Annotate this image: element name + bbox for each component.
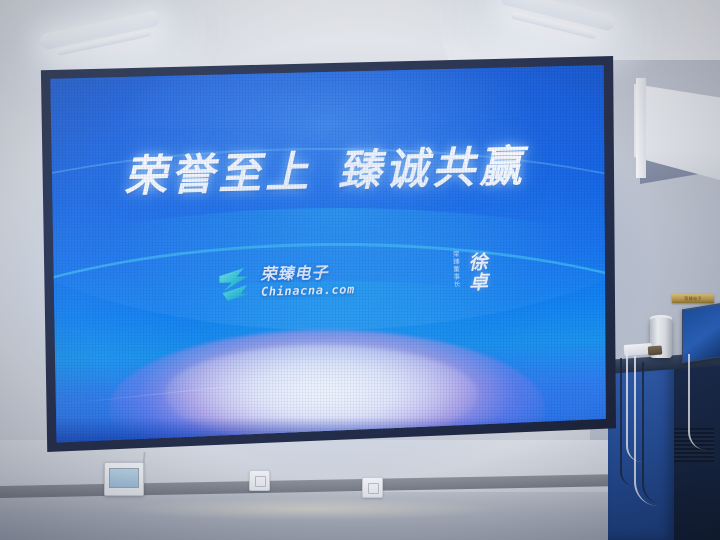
rongzhen-z-mark-icon — [215, 264, 254, 303]
signature-title: 荣臻董事长 — [450, 251, 461, 293]
headline-right: 臻诚共赢 — [337, 142, 526, 197]
signature-block: 荣臻董事长 徐卓 — [450, 250, 491, 293]
screenshot-root: 荣臻电子 — [0, 0, 720, 540]
wall-control-panel[interactable] — [104, 462, 144, 496]
cable-bundle-3 — [688, 354, 706, 450]
power-adapter-secondary — [648, 346, 663, 356]
signature-name: 徐卓 — [463, 251, 491, 292]
wall-socket-right[interactable] — [362, 477, 383, 498]
company-logo: 荣臻电子 Chinacna.com — [215, 261, 355, 303]
slide-headline: 荣誉至上臻诚共赢 — [47, 144, 605, 202]
led-video-wall-screen[interactable]: 荣誉至上臻诚共赢 — [47, 64, 607, 444]
wall-shelf-edge — [636, 78, 646, 178]
company-name-cn: 荣臻电子 — [260, 264, 354, 282]
wall-socket-left[interactable] — [249, 470, 270, 491]
control-panel-display — [109, 468, 139, 488]
company-url: Chinacna.com — [261, 283, 355, 297]
company-logo-text: 荣臻电子 Chinacna.com — [260, 264, 355, 297]
cable-dark-2 — [642, 362, 662, 504]
headline-left: 荣誉至上 — [123, 148, 312, 203]
room: 荣臻电子 — [0, 0, 720, 540]
slide-content: 荣誉至上臻诚共赢 — [47, 64, 607, 444]
cable-dark — [620, 358, 634, 486]
floor-reflection — [120, 498, 500, 520]
